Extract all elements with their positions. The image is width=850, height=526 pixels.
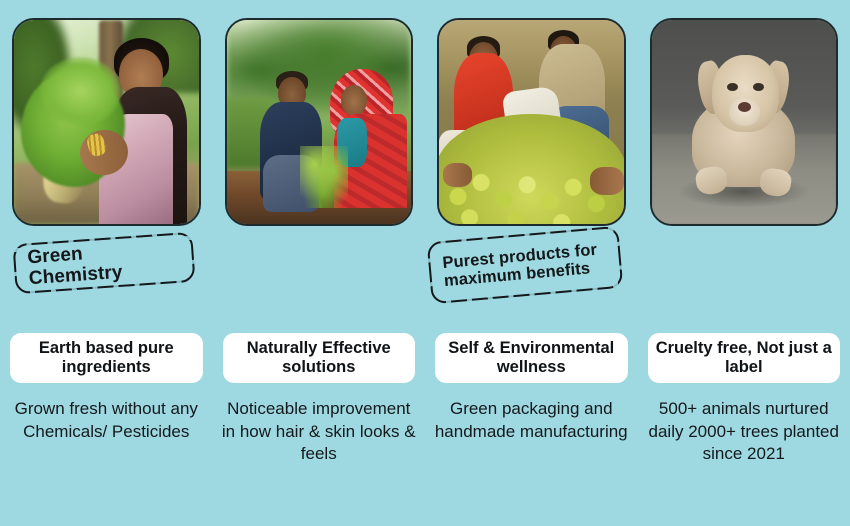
couple-planting-sapling-photo xyxy=(227,20,412,224)
heading-text: Self & Environmental wellness xyxy=(441,339,622,378)
body-copy-1: Grown fresh without any Chemicals/ Pesti… xyxy=(8,398,205,443)
brand-values-infographic: Green Chemistry Earth based pure ingredi… xyxy=(0,0,850,526)
photo2-sapling-leaves-layer xyxy=(300,146,348,207)
value-column-on-a-mission: On a mission to do good Cruelty free, No… xyxy=(638,0,850,526)
heading-text: Naturally Effective solutions xyxy=(229,339,410,378)
body-copy-2: Noticeable improvement in how hair & ski… xyxy=(221,398,418,466)
photo-card-4[interactable] xyxy=(650,18,839,226)
heading-pill-4: Cruelty free, Not just a label xyxy=(648,333,841,383)
heading-text: Earth based pure ingredients xyxy=(16,339,197,378)
heading-pill-1: Earth based pure ingredients xyxy=(10,333,203,383)
body-copy-4: 500+ animals nurtured daily 2000+ trees … xyxy=(646,398,843,466)
photo-card-1[interactable] xyxy=(12,18,201,226)
photo-card-2[interactable] xyxy=(225,18,414,226)
stamp-label: Green Chemistry xyxy=(27,236,182,289)
photo4-puppy-nose-layer xyxy=(738,102,751,112)
photo2-woman-face-layer xyxy=(341,85,367,116)
heading-pill-3: Self & Environmental wellness xyxy=(435,333,628,383)
photo3-hand-left-layer xyxy=(443,163,473,187)
woman-holding-leafy-greens-photo xyxy=(14,20,199,224)
body-copy-3: Green packaging and handmade manufacturi… xyxy=(433,398,630,443)
photo-card-3[interactable] xyxy=(437,18,626,226)
puppy-lying-down-photo xyxy=(652,20,837,224)
children-sorting-amla-fruit-photo xyxy=(439,20,624,224)
heading-pill-2: Naturally Effective solutions xyxy=(223,333,416,383)
photo3-hand-right-layer xyxy=(590,167,623,196)
heading-text: Cruelty free, Not just a label xyxy=(654,339,835,378)
photo1-leafy-greens-highlight-layer xyxy=(40,57,121,126)
value-columns: Green Chemistry Earth based pure ingredi… xyxy=(0,0,850,526)
value-column-green-chemistry: Green Chemistry Earth based pure ingredi… xyxy=(0,0,213,526)
value-column-sustainable-packaging: Sustainable packaging Self & Environment… xyxy=(425,0,638,526)
stamp-green-chemistry: Green Chemistry xyxy=(12,232,195,294)
value-column-purest-products: Purest products for maximum benefits Nat… xyxy=(213,0,426,526)
